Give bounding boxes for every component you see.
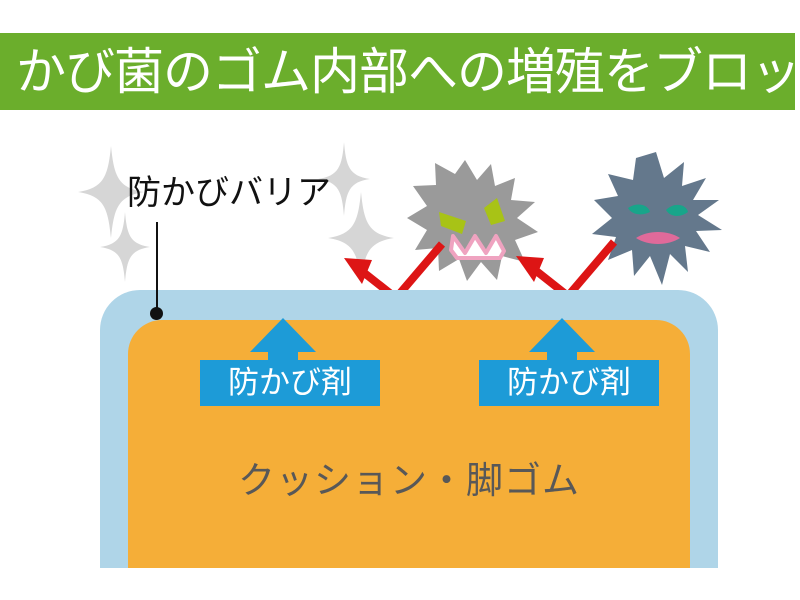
callout-anchor-dot bbox=[150, 307, 163, 320]
title-banner: かび菌のゴム内部への増殖をブロック bbox=[0, 33, 795, 110]
antifungal-agent-group-2: 防かび剤 bbox=[479, 318, 659, 402]
callout-leader-line bbox=[156, 222, 158, 314]
diagram-canvas: かび菌のゴム内部への増殖をブロック bbox=[0, 0, 800, 600]
barrier-callout-label: 防かびバリア bbox=[127, 176, 331, 210]
rubber-body-label: クッション・脚ゴム bbox=[128, 462, 690, 499]
page-title: かび菌のゴム内部への増殖をブロック bbox=[16, 47, 800, 97]
sparkle-icon bbox=[100, 212, 150, 282]
antifungal-agent-label: 防かび剤 bbox=[479, 360, 659, 406]
antifungal-agent-label: 防かび剤 bbox=[200, 360, 380, 406]
antifungal-agent-group-1: 防かび剤 bbox=[200, 318, 380, 402]
